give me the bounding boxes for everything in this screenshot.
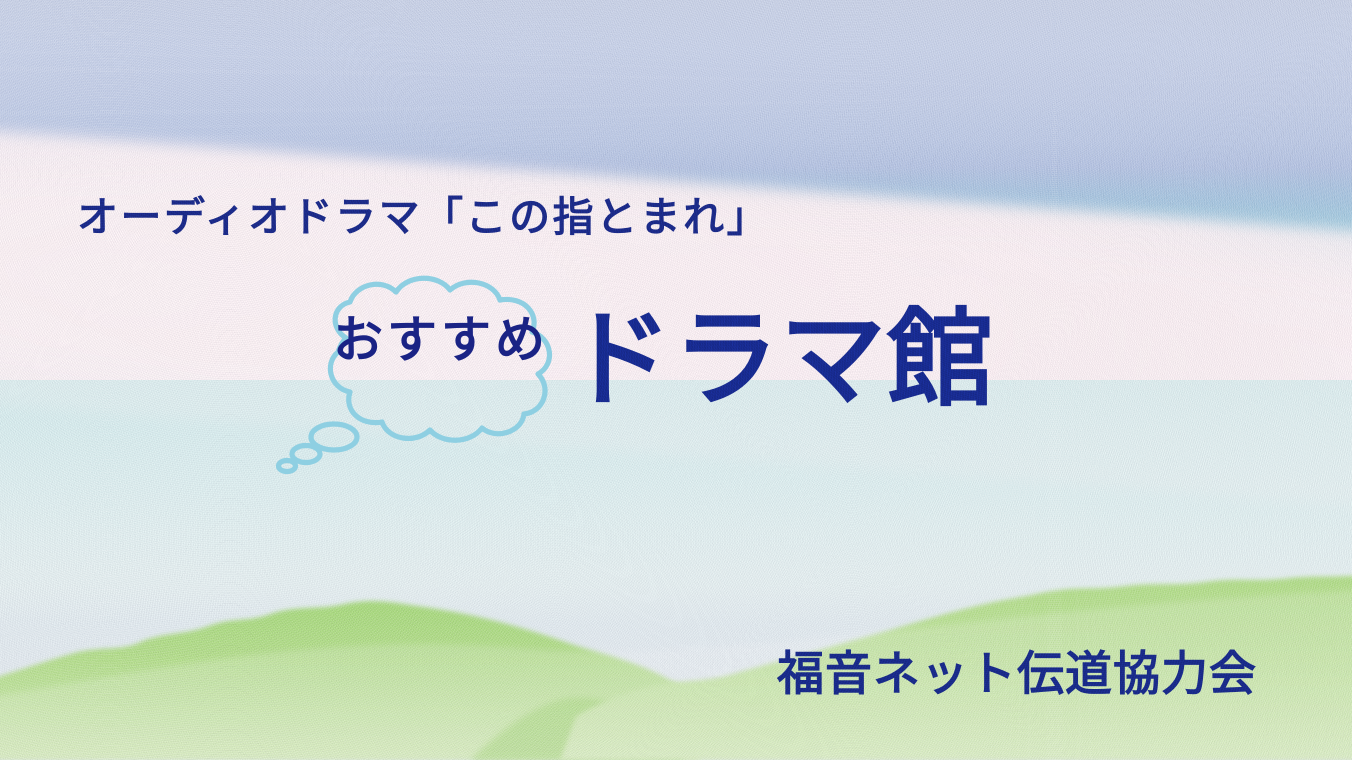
title-card-slide: オーディオドラマ「この指とまれ」 おすすめ ドラマ館 福音ネット伝道協力会 [0,0,1352,760]
recommend-label: おすすめ [333,315,549,365]
thought-bubble-icon [272,272,592,477]
audio-drama-subtitle: オーディオドラマ「この指とまれ」 [77,197,770,238]
page-title: ドラマ館 [566,307,994,413]
organization-name: 福音ネット伝道協力会 [777,651,1257,698]
green-hills [0,502,1352,760]
